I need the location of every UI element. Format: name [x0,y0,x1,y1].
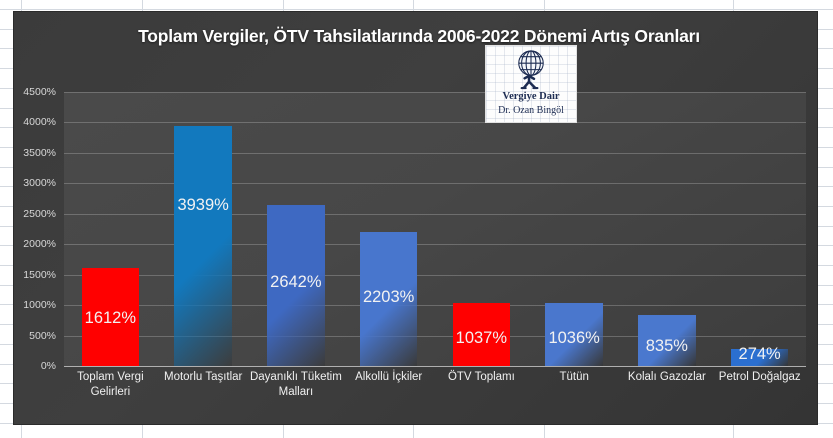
x-axis: Toplam Vergi GelirleriMotorlu TaşıtlarDa… [64,370,806,424]
y-axis-tick-label: 1000% [13,300,56,310]
x-axis-category-label: Motorlu Taşıtlar [157,370,250,385]
watermark-logo: Vergiye Dair Dr. Ozan Bingöl [485,45,577,123]
y-axis-tick-label: 500% [13,331,56,341]
bar[interactable] [545,303,603,366]
gridline [64,122,806,123]
watermark-line-1: Vergiye Dair [486,91,576,102]
chart-title: Toplam Vergiler, ÖTV Tahsilatlarında 200… [74,24,764,49]
x-axis-category-label: Dayanıklı Tüketim Malları [250,370,343,399]
x-axis-category-label: Tütün [528,370,621,385]
bar[interactable] [453,303,511,366]
y-axis-tick-label: 4000% [13,117,56,127]
bar[interactable] [360,232,418,366]
plot-area: 1612%3939%2642%2203%1037%1036%835%274% [64,92,806,366]
x-axis-category-label: Alkollü İçkiler [342,370,435,385]
x-axis-category-label: Petrol Doğalgaz [713,370,806,385]
chart-object[interactable]: Toplam Vergiler, ÖTV Tahsilatlarında 200… [13,11,818,425]
atlas-globe-icon [486,48,576,92]
y-axis-tick-label: 3000% [13,178,56,188]
axis-baseline [64,366,806,367]
y-axis-tick-label: 3500% [13,148,56,158]
y-axis-tick-label: 2000% [13,239,56,249]
gridline [64,92,806,93]
y-axis-tick-label: 1500% [13,270,56,280]
y-axis-tick-label: 2500% [13,209,56,219]
sheet-row-gridline [0,9,833,10]
y-axis-tick-label: 0% [13,361,56,371]
y-axis-tick-label: 4500% [13,87,56,97]
bar[interactable] [638,315,696,366]
bar[interactable] [174,126,232,366]
bar[interactable] [267,205,325,366]
x-axis-category-label: ÖTV Toplamı [435,370,528,385]
x-axis-category-label: Kolalı Gazozlar [621,370,714,385]
watermark-line-2: Dr. Ozan Bingöl [486,105,576,116]
x-axis-category-label: Toplam Vergi Gelirleri [64,370,157,399]
bar[interactable] [731,349,789,366]
bar[interactable] [82,268,140,366]
